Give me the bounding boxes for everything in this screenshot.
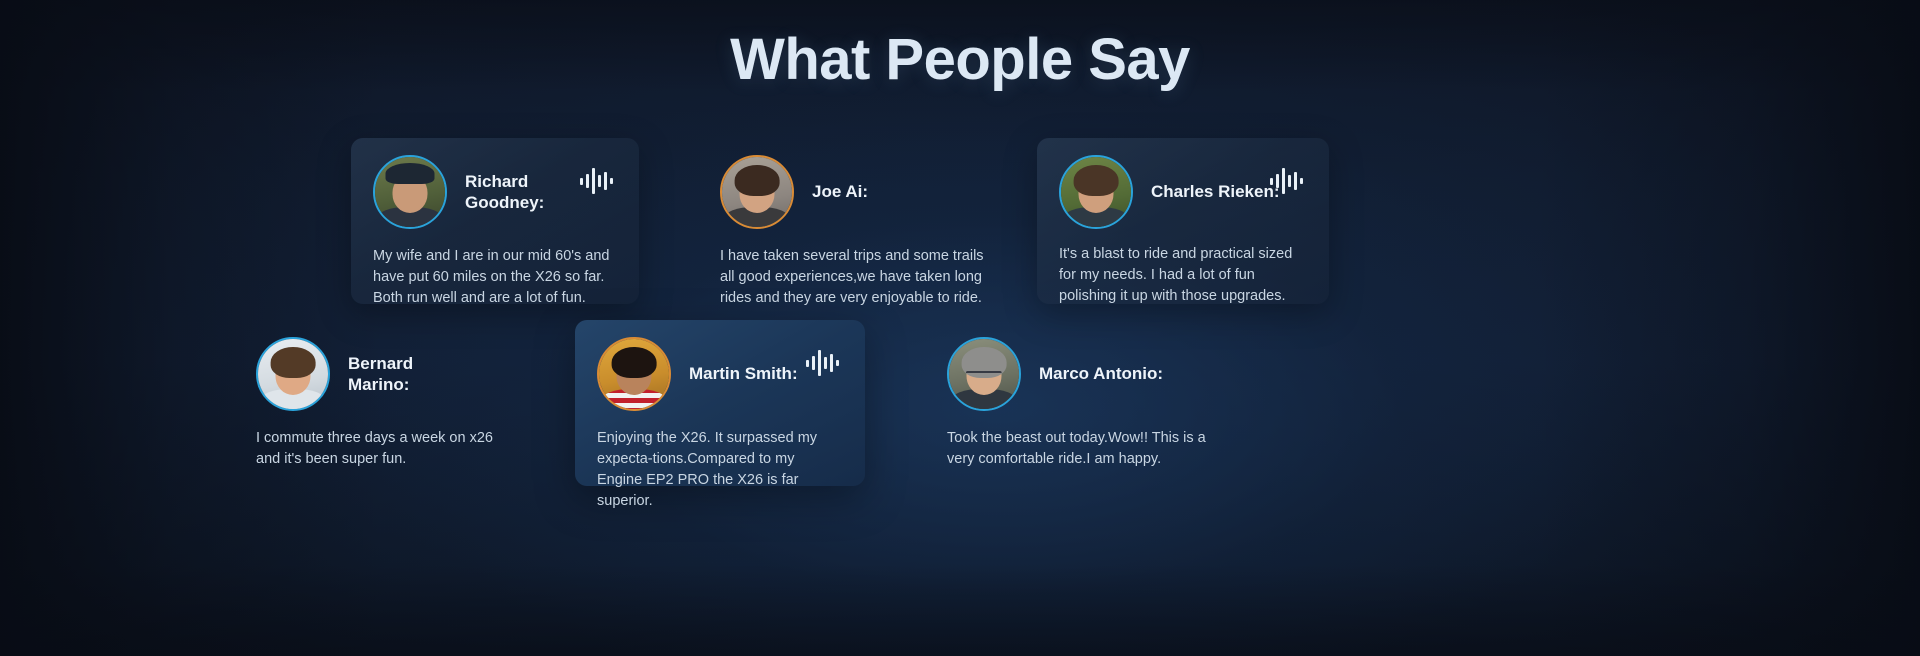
- testimonial-name: Martin Smith:: [689, 363, 798, 384]
- testimonial-quote: Took the beast out today.Wow!! This is a…: [925, 406, 1225, 470]
- testimonial-card-martin-smith[interactable]: Martin Smith: Enjoying the X26. It surpa…: [575, 320, 865, 486]
- testimonial-quote: I have taken several trips and some trai…: [698, 224, 998, 309]
- testimonial-card-charles-rieken[interactable]: Charles Rieken: It's a blast to ride and…: [1037, 138, 1329, 304]
- testimonial-name: Marco Antonio:: [1039, 363, 1163, 384]
- avatar: [256, 337, 330, 411]
- testimonial-card-joe-ai[interactable]: Joe Ai: I have taken several trips and s…: [698, 138, 998, 304]
- testimonial-card-bernard-marino[interactable]: Bernard Marino: I commute three days a w…: [234, 320, 534, 486]
- testimonial-card-marco-antonio[interactable]: Marco Antonio: Took the beast out today.…: [925, 320, 1225, 486]
- avatar: [373, 155, 447, 229]
- testimonial-name: Richard Goodney:: [465, 171, 595, 213]
- testimonial-name: Charles Rieken:: [1151, 181, 1280, 202]
- testimonial-header: Joe Ai:: [698, 138, 998, 224]
- testimonial-quote: It's a blast to ride and practical sized…: [1037, 224, 1329, 307]
- avatar: [720, 155, 794, 229]
- testimonial-header: Richard Goodney:: [351, 138, 639, 224]
- testimonial-card-richard-goodney[interactable]: Richard Goodney: My wife and I are in ou…: [351, 138, 639, 304]
- testimonial-name: Joe Ai:: [812, 181, 868, 202]
- testimonial-header: Charles Rieken:: [1037, 138, 1329, 224]
- testimonial-header: Marco Antonio:: [925, 320, 1225, 406]
- audio-waveform-icon[interactable]: [1270, 166, 1303, 196]
- audio-waveform-icon[interactable]: [806, 348, 839, 378]
- testimonial-quote: Enjoying the X26. It surpassed my expect…: [575, 406, 865, 512]
- testimonial-header: Martin Smith:: [575, 320, 865, 406]
- avatar: [597, 337, 671, 411]
- testimonials-section: What People Say Richard Goodney: My wife…: [0, 0, 1920, 656]
- testimonial-quote: I commute three days a week on x26 and i…: [234, 406, 534, 470]
- audio-waveform-icon[interactable]: [580, 166, 613, 196]
- page-title: What People Say: [0, 26, 1920, 93]
- avatar: [1059, 155, 1133, 229]
- testimonial-name: Bernard Marino:: [348, 353, 478, 395]
- testimonial-quote: My wife and I are in our mid 60's and ha…: [351, 224, 639, 309]
- avatar: [947, 337, 1021, 411]
- testimonial-header: Bernard Marino:: [234, 320, 534, 406]
